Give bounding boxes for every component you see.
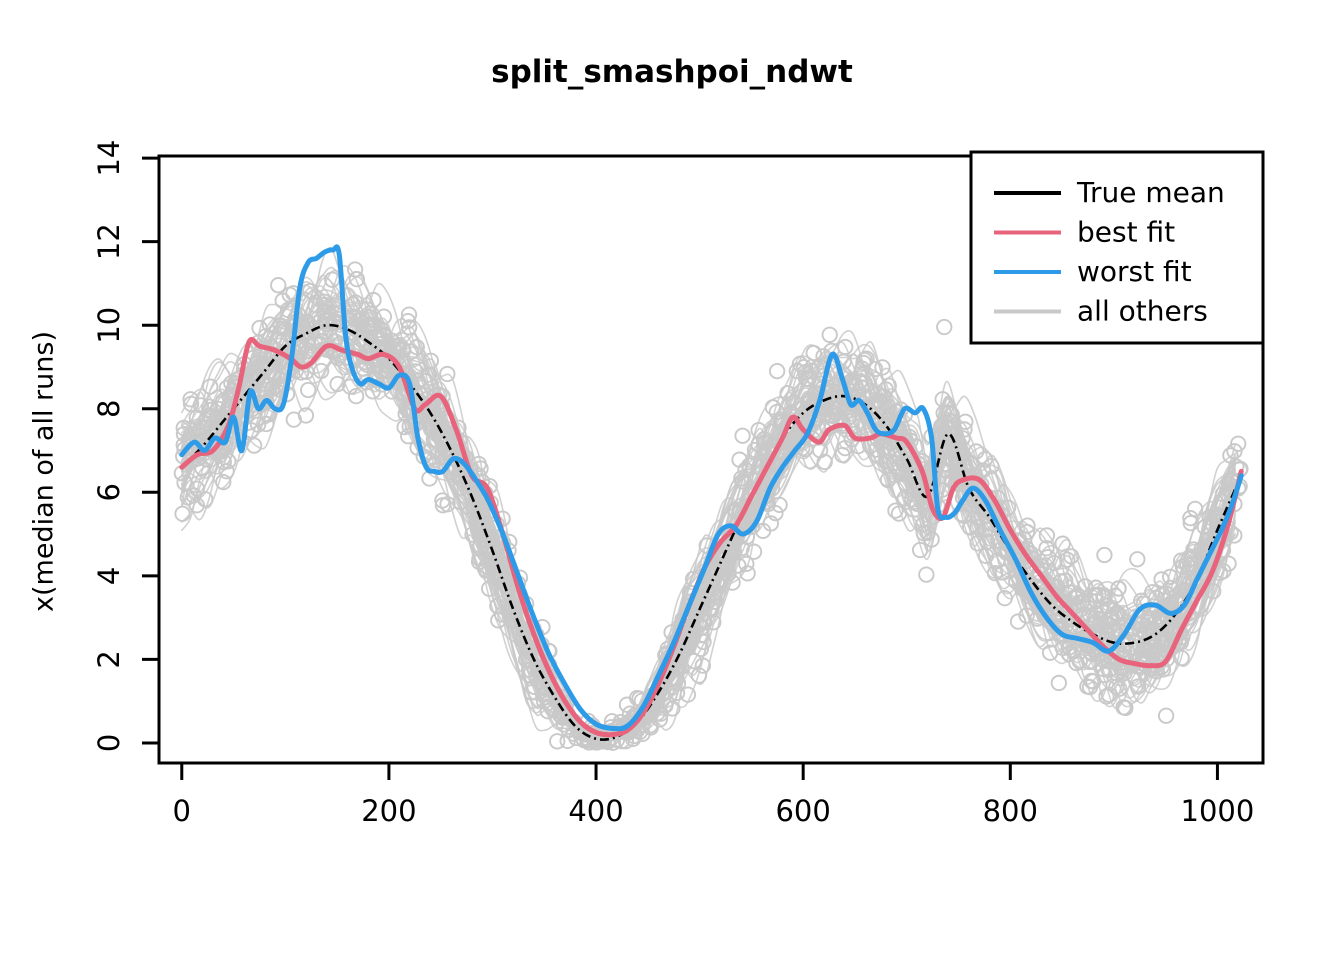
y-tick-label: 4 xyxy=(92,567,126,585)
x-tick-label: 1000 xyxy=(1181,794,1255,828)
x-tick-label: 400 xyxy=(568,794,623,828)
x-tick-label: 200 xyxy=(361,794,416,828)
y-tick-label: 12 xyxy=(92,223,126,260)
legend-label: worst fit xyxy=(1077,255,1192,288)
y-tick-label: 0 xyxy=(92,734,126,752)
y-tick-label: 14 xyxy=(92,140,126,177)
plot-canvas: 02004006008001000 02468101214 True meanb… xyxy=(0,0,1344,960)
y-axis-ticks: 02468101214 xyxy=(92,140,159,753)
y-tick-label: 8 xyxy=(92,400,126,418)
legend-label: True mean xyxy=(1076,176,1225,209)
legend-label: best fit xyxy=(1077,216,1175,249)
x-tick-label: 800 xyxy=(983,794,1038,828)
chart-figure: split_smashpoi_ndwt x(median of all runs… xyxy=(0,0,1344,960)
x-axis-ticks: 02004006008001000 xyxy=(173,763,1255,828)
y-tick-label: 2 xyxy=(92,650,126,668)
y-tick-label: 10 xyxy=(92,307,126,344)
legend: True meanbest fitworst fitall others xyxy=(971,152,1263,343)
x-tick-label: 600 xyxy=(775,794,830,828)
y-tick-label: 6 xyxy=(92,483,126,501)
x-tick-label: 0 xyxy=(173,794,191,828)
legend-label: all others xyxy=(1077,295,1208,328)
